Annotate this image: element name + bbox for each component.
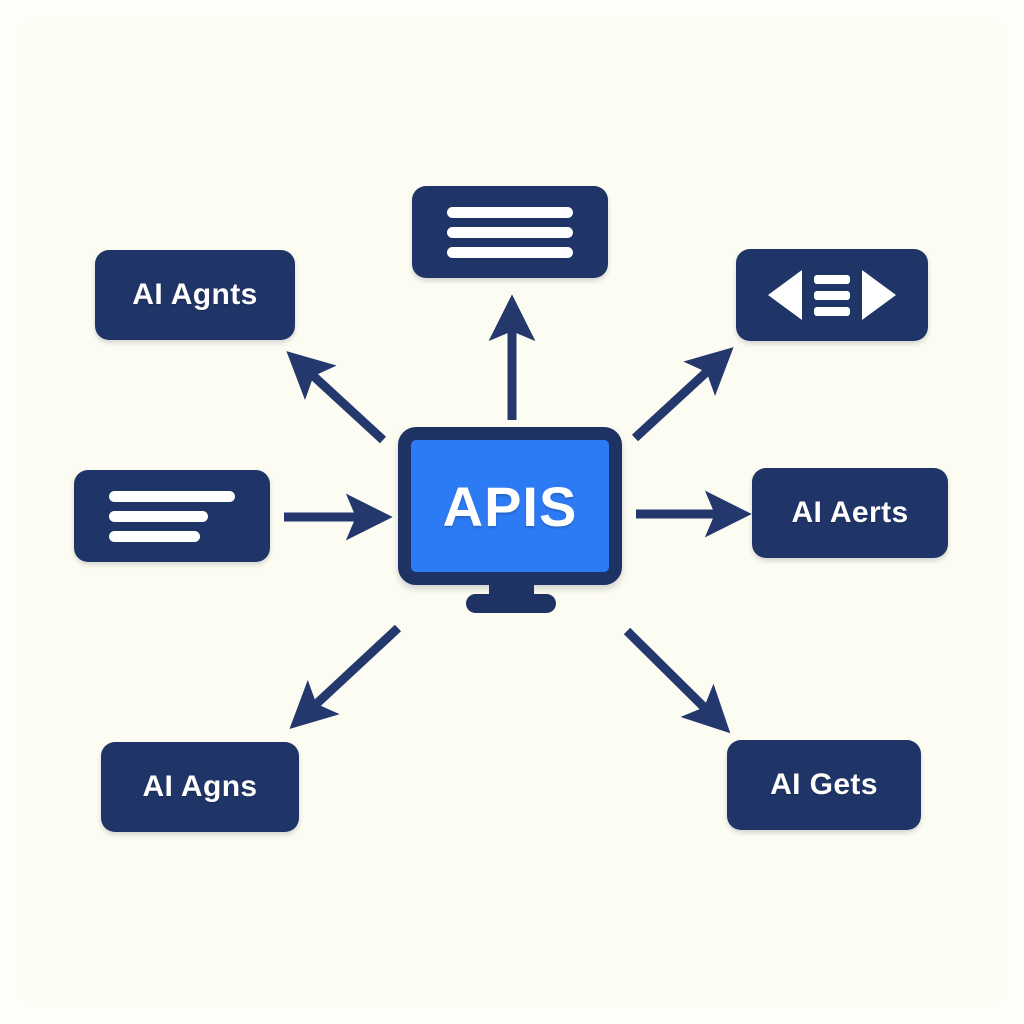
monitor-screen[interactable]: APIS — [398, 427, 622, 585]
monitor-base — [466, 594, 556, 613]
diagram-canvas: AI Agnts AI Aerts — [0, 0, 1024, 1024]
central-apis-monitor[interactable]: APIS — [0, 0, 1024, 1024]
monitor-label: APIS — [443, 474, 578, 539]
